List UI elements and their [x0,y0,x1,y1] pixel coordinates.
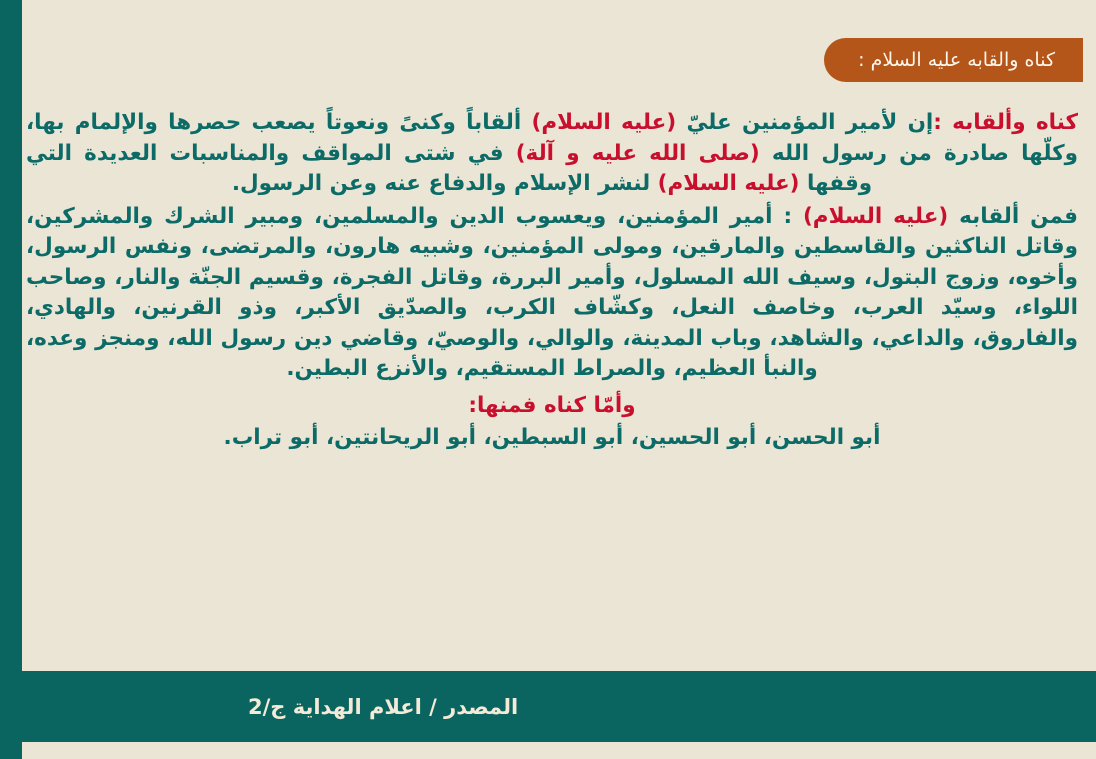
source-citation: المصدر / اعلام الهداية ج/2 [248,695,518,719]
honorific-alayhi-salam-1: (عليه السلام) [532,110,677,135]
header-title-badge: كناه والقابه عليه السلام : [824,38,1083,82]
honorific-alayhi-salam-2: (عليه السلام) [658,171,800,196]
paragraph1-segment-4: لنشر الإسلام والدفاع عنه وعن الرسول. [232,171,658,196]
honorific-salla-allah-1: (صلى الله عليه و آلة) [516,141,760,166]
paragraph2-colon: : [773,204,803,229]
paragraph1-segment-1: إن لأمير المؤمنين عليّ [676,110,933,135]
header-badge-container: كناه والقابه عليه السلام : [824,38,1083,82]
paragraph-titles-intro: كناه وألقابه :إن لأمير المؤمنين عليّ (عل… [26,108,1078,200]
document-body: كناه وألقابه :إن لأمير المؤمنين عليّ (عل… [26,108,1078,454]
honorific-alayhi-salam-3: (عليه السلام) [803,204,948,229]
paragraph2-lead-label: فمن ألقابه [948,204,1078,229]
left-accent-stripe [0,0,22,759]
paragraph-titles-list: فمن ألقابه (عليه السلام) : أمير المؤمنين… [26,202,1078,385]
kunya-section-heading: وأمّا كناه فمنها: [26,391,1078,422]
paragraph1-lead-label: كناه وألقابه : [933,110,1078,135]
paragraph2-titles-enumeration: أمير المؤمنين، ويعسوب الدين والمسلمين، و… [26,204,1078,382]
kunya-list-line: أبو الحسن، أبو الحسين، أبو السبطين، أبو … [26,423,1078,454]
footer-bar: المصدر / اعلام الهداية ج/2 [3,671,1096,742]
document-page: كناه والقابه عليه السلام : كناه وألقابه … [0,0,1096,759]
